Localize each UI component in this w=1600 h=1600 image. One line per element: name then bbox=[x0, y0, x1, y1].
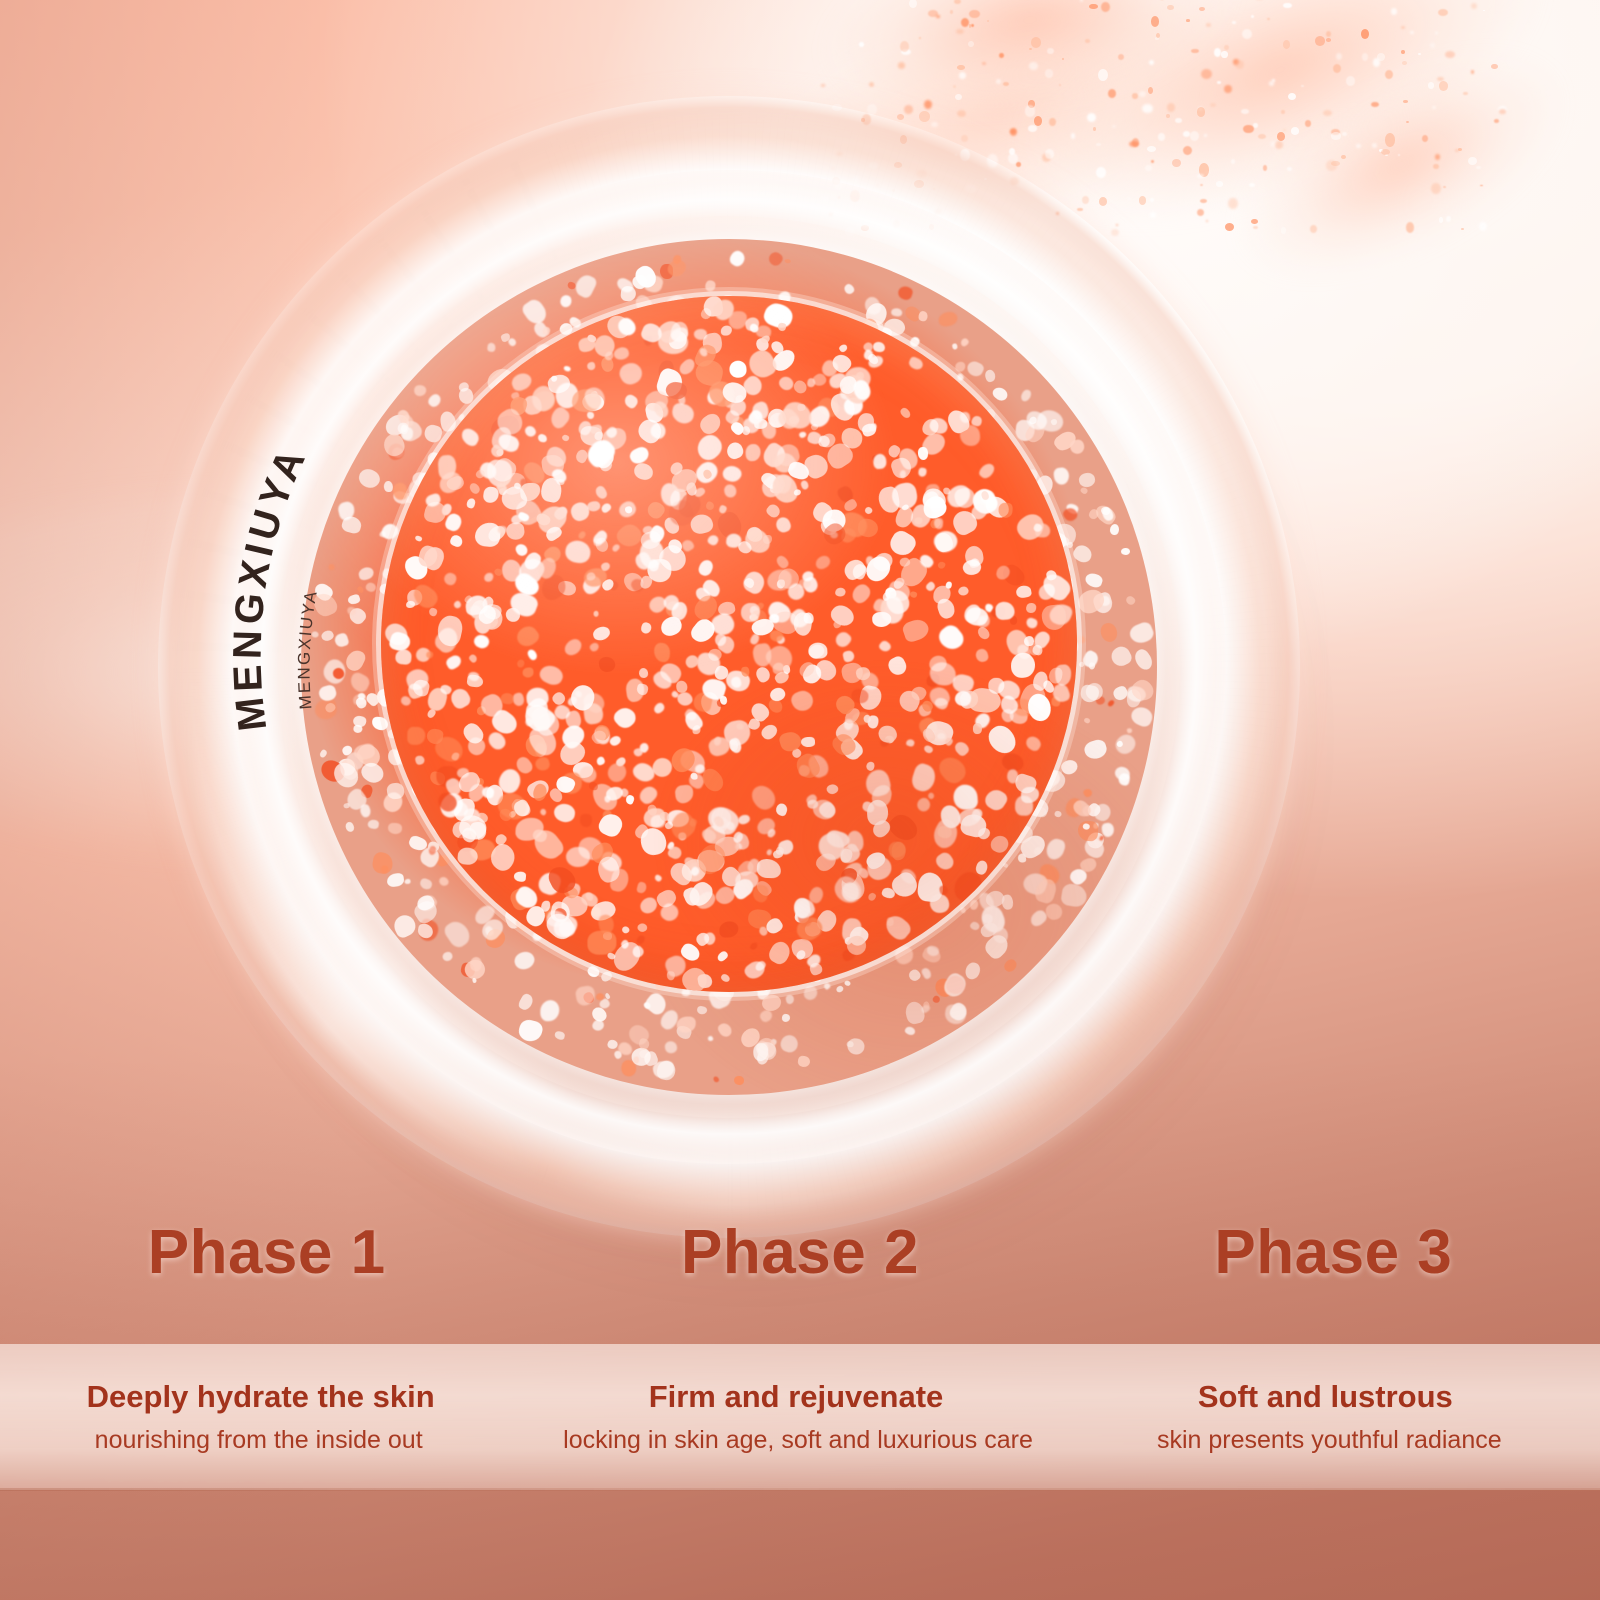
phase-sub-3: skin presents youthful radiance bbox=[1157, 1428, 1502, 1453]
phase-description-3: Soft and lustrous skin presents youthful… bbox=[1067, 1344, 1600, 1490]
phase-description-2: Firm and rejuvenate locking in skin age,… bbox=[533, 1344, 1066, 1490]
info-band-baseline bbox=[0, 1488, 1600, 1491]
phase-sub-1: nourishing from the inside out bbox=[95, 1428, 423, 1453]
phase-descriptions-row: Deeply hydrate the skin nourishing from … bbox=[0, 1344, 1600, 1490]
phase-description-1: Deeply hydrate the skin nourishing from … bbox=[0, 1344, 533, 1490]
phase-lead-2: Firm and rejuvenate bbox=[649, 1381, 944, 1412]
phase-lead-3: Soft and lustrous bbox=[1198, 1381, 1453, 1412]
phase-sub-2: locking in skin age, soft and luxurious … bbox=[563, 1428, 1033, 1453]
phase-heading-1: Phase 1 bbox=[0, 1222, 533, 1284]
cosmetic-jar-icon: MENGXIUYA MENGXIUYA bbox=[158, 96, 1300, 1238]
product-infographic-canvas: MENGXIUYA MENGXIUYA Phase 1 Phase 2 Phas… bbox=[0, 0, 1600, 1600]
phase-heading-3: Phase 3 bbox=[1067, 1222, 1600, 1284]
phase-title-1: Phase 1 bbox=[148, 1222, 386, 1284]
phase-title-2: Phase 2 bbox=[681, 1222, 919, 1284]
phase-title-3: Phase 3 bbox=[1214, 1222, 1452, 1284]
scrub-contents-inner bbox=[381, 296, 1078, 993]
phase-headings-row: Phase 1 Phase 2 Phase 3 bbox=[0, 1222, 1600, 1284]
phase-heading-2: Phase 2 bbox=[533, 1222, 1066, 1284]
phase-lead-1: Deeply hydrate the skin bbox=[87, 1381, 435, 1412]
